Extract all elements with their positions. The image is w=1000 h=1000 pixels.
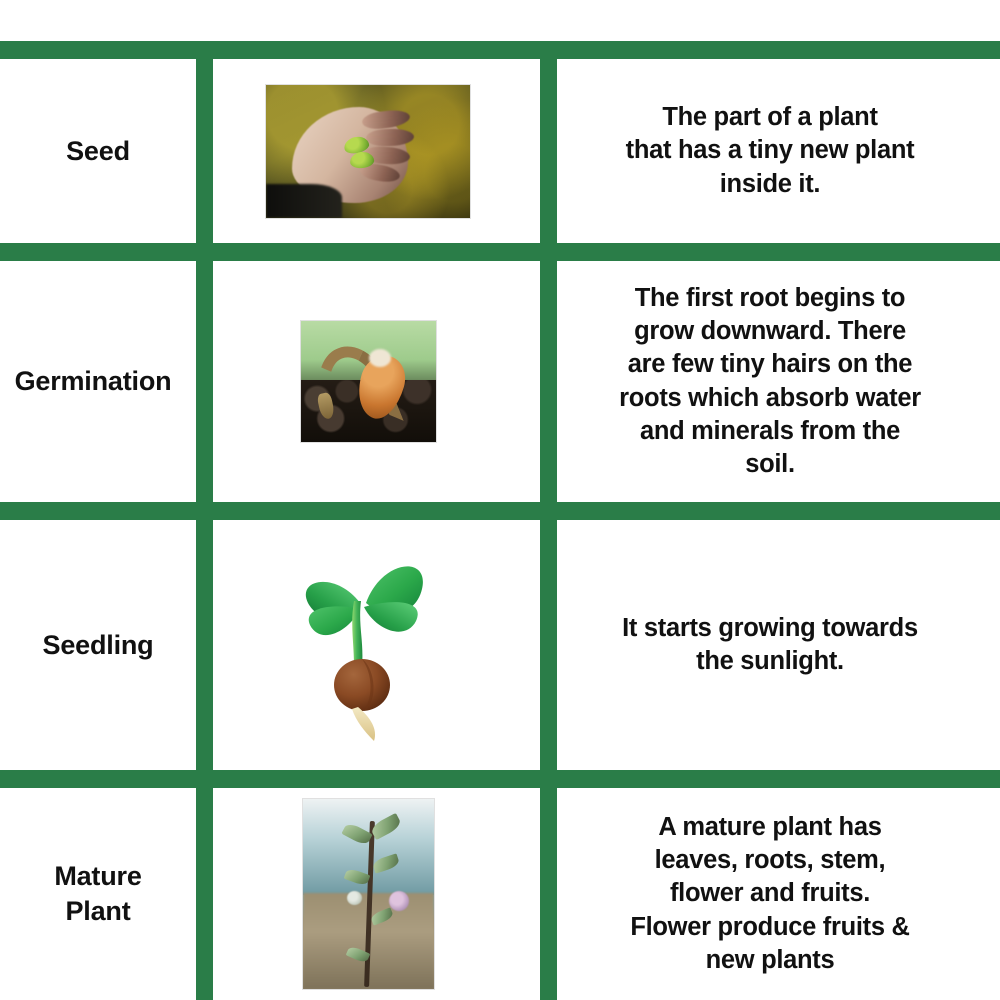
image-cell-germination xyxy=(196,261,540,502)
description-text-seedling: It starts growing towards the sunlight. xyxy=(622,612,918,678)
table-row-germination: Germination The first root begins to gro… xyxy=(0,261,1000,502)
seed-husk-shape xyxy=(369,349,391,367)
description-text-germination: The first root begins to grow downward. … xyxy=(619,282,921,481)
description-cell-seedling: It starts growing towards the sunlight. xyxy=(540,520,1000,770)
mature-flowering-plant-photo xyxy=(303,799,434,989)
flower-shape xyxy=(347,891,362,905)
plant-life-cycle-table: Seed The part of a plant that has a tiny… xyxy=(0,0,1000,1000)
stage-label-seed: Seed xyxy=(66,134,130,169)
seedling-sprout-illustration xyxy=(278,545,458,745)
description-text-seed: The part of a plant that has a tiny new … xyxy=(626,101,915,200)
grid-line-top xyxy=(0,41,1000,59)
image-cell-seedling xyxy=(196,520,540,770)
stage-cell-germination: Germination xyxy=(0,261,196,502)
finger-shape xyxy=(366,128,415,147)
description-cell-seed: The part of a plant that has a tiny new … xyxy=(540,59,1000,243)
grid-line-row-2 xyxy=(0,502,1000,520)
stage-cell-mature-plant: Mature Plant xyxy=(0,788,196,1000)
grid-line-row-1 xyxy=(0,243,1000,261)
table-row-seedling: Seedling xyxy=(0,520,1000,770)
stem-shape xyxy=(352,601,362,667)
grid-line-column-1 xyxy=(196,41,213,1000)
grid-line-column-2 xyxy=(540,41,557,1000)
flower-shape xyxy=(389,891,409,911)
sleeve-shape xyxy=(266,184,342,218)
image-cell-seed xyxy=(196,59,540,243)
root-shape xyxy=(352,707,375,741)
table-row-seed: Seed The part of a plant that has a tiny… xyxy=(0,59,1000,243)
stage-cell-seed: Seed xyxy=(0,59,196,243)
table-row-mature-plant: Mature Plant A mature plant has leaves, … xyxy=(0,788,1000,1000)
grid-line-row-3 xyxy=(0,770,1000,788)
leaf-shape xyxy=(364,602,418,632)
stage-label-seedling: Seedling xyxy=(43,628,154,663)
germinating-seed-in-soil-photo xyxy=(301,321,436,442)
stage-cell-seedling: Seedling xyxy=(0,520,196,770)
description-cell-germination: The first root begins to grow downward. … xyxy=(540,261,1000,502)
stage-label-mature-plant: Mature Plant xyxy=(54,859,141,928)
description-text-mature-plant: A mature plant has leaves, roots, stem, … xyxy=(630,811,909,977)
stage-label-germination: Germination xyxy=(15,364,172,399)
hand-holding-seeds-photo xyxy=(266,85,470,218)
description-cell-mature-plant: A mature plant has leaves, roots, stem, … xyxy=(540,788,1000,1000)
seed-shape xyxy=(334,659,390,711)
image-cell-mature-plant xyxy=(196,788,540,1000)
